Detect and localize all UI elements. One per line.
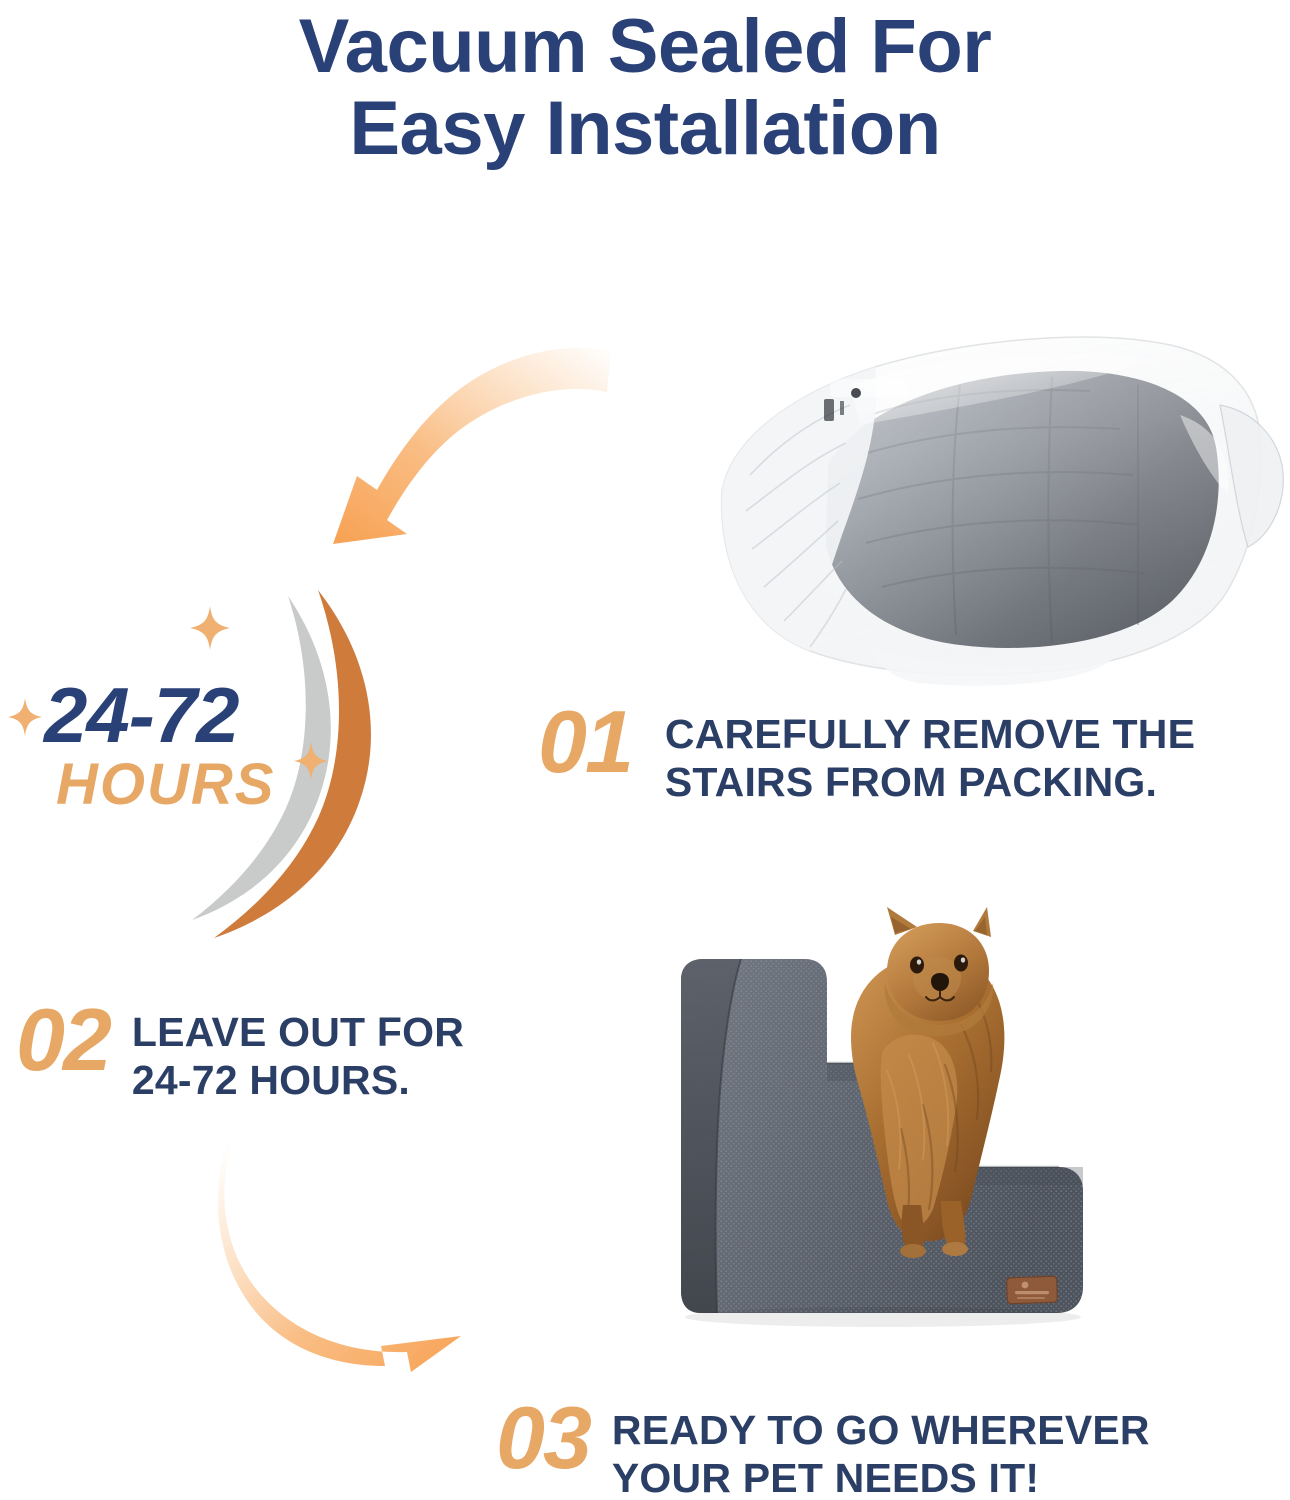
step-number-02: 02 [16, 1000, 110, 1081]
step-text-01: CAREFULLY REMOVE THE STAIRS FROM PACKING… [665, 710, 1195, 807]
vacuum-sealed-package-photo [660, 295, 1290, 695]
step-item-02: 02 LEAVE OUT FOR 24-72 HOURS. [16, 1000, 464, 1105]
step-number-01: 01 [538, 702, 632, 783]
sparkle-icon-top [190, 606, 230, 650]
badge-duration-unit: HOURS [56, 756, 275, 814]
step-text-03: READY TO GO WHEREVER YOUR PET NEEDS IT! [612, 1406, 1150, 1500]
page-title-line-1: Vacuum Sealed For [0, 6, 1290, 88]
infographic-page: Vacuum Sealed For Easy Installation [0, 0, 1290, 1500]
step-item-01: 01 CAREFULLY REMOVE THE STAIRS FROM PACK… [538, 702, 1195, 807]
pet-stairs-with-dog-photo [655, 905, 1135, 1360]
sparkle-icon-left [8, 698, 42, 736]
sparkle-icon-right [294, 742, 328, 780]
badge-duration-value: 24-72 [44, 676, 239, 754]
step-text-02: LEAVE OUT FOR 24-72 HOURS. [132, 1008, 464, 1105]
24-72-hours-badge: 24-72 HOURS [0, 588, 440, 958]
curved-arrow-down-left-icon [315, 330, 615, 565]
brand-logo-tag [1007, 1276, 1058, 1304]
curved-arrow-down-right-icon [195, 1140, 525, 1375]
step-item-03: 03 READY TO GO WHEREVER YOUR PET NEEDS I… [496, 1398, 1150, 1500]
page-title: Vacuum Sealed For Easy Installation [0, 6, 1290, 170]
step-number-03: 03 [496, 1398, 590, 1479]
page-title-line-2: Easy Installation [0, 88, 1290, 170]
